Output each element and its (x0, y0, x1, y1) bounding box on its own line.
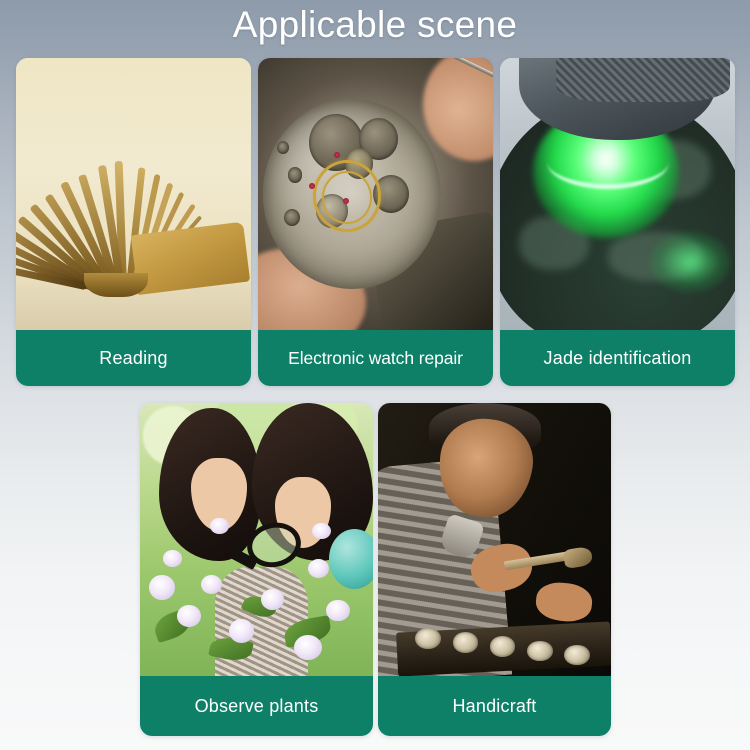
silver-medallion (453, 632, 479, 652)
flower (308, 559, 329, 578)
page-title: Applicable scene (0, 0, 750, 54)
flower (201, 575, 222, 594)
screw-head (284, 209, 300, 226)
hand-skin (423, 58, 494, 161)
hammer-head (563, 546, 594, 569)
silver-medallion (564, 645, 590, 665)
flower (210, 518, 229, 534)
watch-movement (263, 99, 442, 289)
silver-medallion (415, 628, 441, 648)
flower (326, 600, 349, 622)
watch-movement-photo (258, 58, 493, 330)
scene-caption-reading: Reading (16, 330, 251, 386)
flower (149, 575, 175, 600)
open-book-photo (16, 58, 251, 330)
scene-card-observe-plants[interactable]: Observe plants (140, 403, 373, 736)
scene-caption-jade: Jade identification (500, 330, 735, 386)
screw-head (277, 141, 290, 154)
flower (177, 605, 200, 627)
scene-card-handicraft[interactable]: Handicraft (378, 403, 611, 736)
craftsman-photo (378, 403, 611, 676)
infographic-page: Applicable scene (0, 0, 750, 750)
scene-card-watch-repair[interactable]: Electronic watch repair (258, 58, 493, 386)
silver-medallion (490, 636, 516, 656)
green-light-spill (650, 232, 730, 292)
jade-inspection-photo (500, 58, 735, 330)
scene-card-jade[interactable]: Jade identification (500, 58, 735, 386)
watch-jewel (343, 198, 349, 204)
scene-caption-handicraft: Handicraft (378, 676, 611, 736)
scene-caption-watch-repair: Electronic watch repair (258, 330, 493, 386)
craftsman-hand (535, 580, 595, 624)
flower (294, 635, 322, 660)
silver-medallion (527, 641, 553, 661)
children-magnifier-photo (140, 403, 373, 676)
scene-card-reading[interactable]: Reading (16, 58, 251, 386)
teal-bottle (329, 529, 373, 589)
flashlight-knurled-grip (556, 58, 730, 102)
light-rim-highlight (547, 134, 669, 188)
watch-jewel (309, 183, 315, 189)
flower (163, 550, 182, 566)
screw-head (288, 167, 302, 182)
scene-caption-observe-plants: Observe plants (140, 676, 373, 736)
